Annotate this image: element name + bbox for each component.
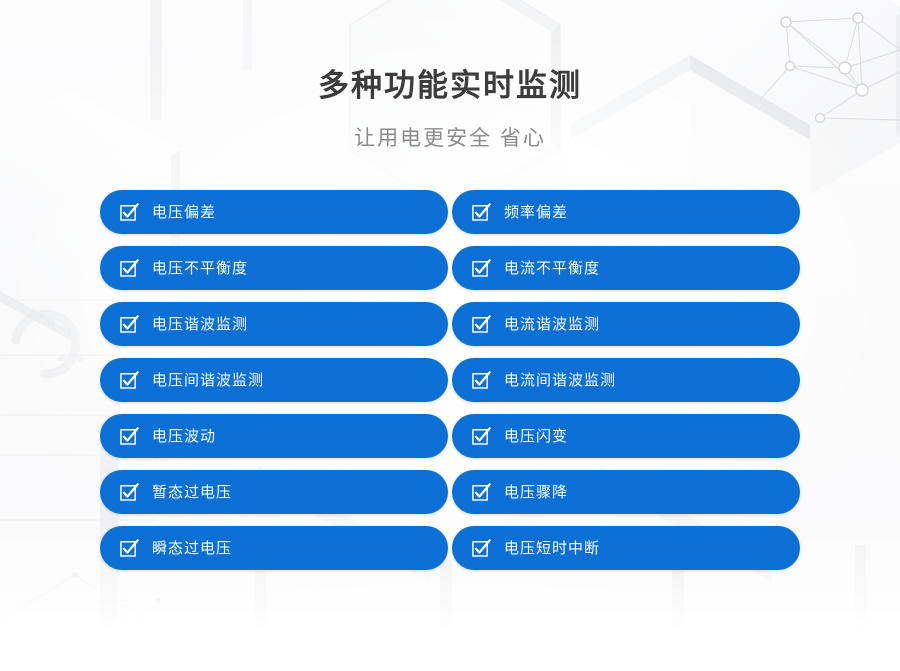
- feature-label: 暂态过电压: [152, 485, 232, 500]
- feature-label: 电压闪变: [504, 429, 568, 444]
- feature-pill-8[interactable]: 电流间谐波监测: [452, 358, 800, 402]
- checkbox-checked-icon: [120, 539, 139, 558]
- checkbox-checked-icon: [120, 483, 139, 502]
- feature-label: 电压骤降: [504, 485, 568, 500]
- checkbox-checked-icon: [472, 483, 491, 502]
- checkbox-checked-icon: [472, 259, 491, 278]
- feature-label: 瞬态过电压: [152, 541, 232, 556]
- feature-label: 电压不平衡度: [152, 261, 248, 276]
- feature-label: 电压波动: [152, 429, 216, 444]
- feature-label: 电流谐波监测: [504, 317, 600, 332]
- feature-label: 电流不平衡度: [504, 261, 600, 276]
- feature-pill-2[interactable]: 频率偏差: [452, 190, 800, 234]
- checkbox-checked-icon: [120, 315, 139, 334]
- feature-pill-11[interactable]: 暂态过电压: [100, 470, 448, 514]
- checkbox-checked-icon: [120, 371, 139, 390]
- checkbox-checked-icon: [120, 427, 139, 446]
- feature-pill-10[interactable]: 电压闪变: [452, 414, 800, 458]
- checkbox-checked-icon: [472, 203, 491, 222]
- feature-label: 频率偏差: [504, 205, 568, 220]
- feature-pill-7[interactable]: 电压间谐波监测: [100, 358, 448, 402]
- page-header: 多种功能实时监测 让用电更安全 省心: [0, 0, 900, 151]
- feature-label: 电压短时中断: [504, 541, 600, 556]
- page-root: 多种功能实时监测 让用电更安全 省心 电压偏差 频率偏差 电压不平衡度 电流不平…: [0, 0, 900, 671]
- checkbox-checked-icon: [120, 203, 139, 222]
- feature-label: 电压间谐波监测: [152, 373, 264, 388]
- feature-label: 电流间谐波监测: [504, 373, 616, 388]
- feature-pill-14[interactable]: 电压短时中断: [452, 526, 800, 570]
- feature-list: 电压偏差 频率偏差 电压不平衡度 电流不平衡度 电压谐波监测 电流谐波监测: [100, 190, 800, 570]
- feature-label: 电压谐波监测: [152, 317, 248, 332]
- feature-pill-1[interactable]: 电压偏差: [100, 190, 448, 234]
- page-title: 多种功能实时监测: [0, 0, 900, 104]
- checkbox-checked-icon: [472, 539, 491, 558]
- checkbox-checked-icon: [472, 371, 491, 390]
- feature-pill-13[interactable]: 瞬态过电压: [100, 526, 448, 570]
- feature-pill-4[interactable]: 电流不平衡度: [452, 246, 800, 290]
- feature-label: 电压偏差: [152, 205, 216, 220]
- checkbox-checked-icon: [120, 259, 139, 278]
- checkbox-checked-icon: [472, 315, 491, 334]
- feature-pill-9[interactable]: 电压波动: [100, 414, 448, 458]
- feature-pill-6[interactable]: 电流谐波监测: [452, 302, 800, 346]
- page-subtitle: 让用电更安全 省心: [0, 104, 900, 151]
- feature-pill-5[interactable]: 电压谐波监测: [100, 302, 448, 346]
- feature-pill-12[interactable]: 电压骤降: [452, 470, 800, 514]
- checkbox-checked-icon: [472, 427, 491, 446]
- feature-pill-3[interactable]: 电压不平衡度: [100, 246, 448, 290]
